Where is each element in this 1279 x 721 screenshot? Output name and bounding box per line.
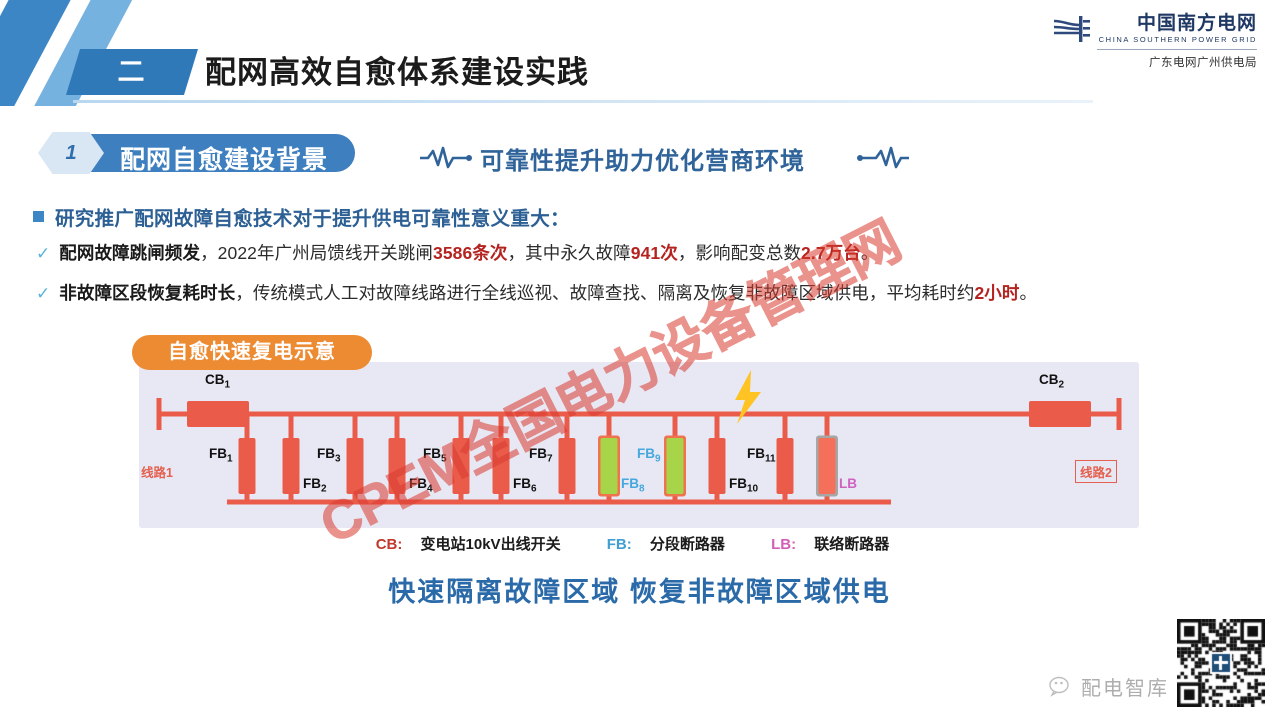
legend-item-cb: CB: 变电站10kV出线开关 [376,536,575,553]
breaker-label-FB5: FB5 [423,446,447,465]
legend-item-fb: FB: 分段断路器 [607,536,739,553]
breaker-FB10 [709,438,726,494]
breaker-label-FB8: FB8 [621,476,645,495]
breaker-label-FB2: FB2 [303,476,327,495]
square-bullet-icon [33,211,44,222]
waveform-icon-right [855,146,910,170]
b2-seg2: 。 [1020,283,1038,303]
breaker-label-FB10: FB10 [729,476,758,495]
breaker-label-FB1: FB1 [209,446,233,465]
csg-logo-icon [1052,14,1092,44]
bullet-item-2-text: 非故障区段恢复耗时长，传统模式人工对故障线路进行全线巡视、故障查找、隔离及恢复非… [59,280,1037,305]
legend-key-cb: CB: [376,536,403,553]
breaker-label-FB6: FB6 [513,476,537,495]
breaker-FB2 [283,438,300,494]
wechat-label: 配电智库 [1081,672,1169,701]
bullet-item-1-text: 配网故障跳闸频发，2022年广州局馈线开关跳闸3586条次，其中永久故障941次… [59,240,878,265]
b2-seg1: ，传统模式人工对故障线路进行全线巡视、故障查找、隔离及恢复非故障区域供电，平均耗… [235,283,974,303]
page-title: 配网高效自愈体系建设实践 [205,47,589,92]
breaker-FB8 [601,438,618,494]
right-rail-label: 线路2 [1075,460,1117,483]
b1-lead: 配网故障跳闸频发 [59,243,200,263]
breaker-LB [819,438,836,494]
breaker-label-CB2: CB2 [1039,372,1064,391]
breaker-FB9 [667,438,684,494]
section-subtitle: 可靠性提升助力优化营商环境 [480,141,805,176]
slide-root: 二 配网高效自愈体系建设实践 中国南方电网 CHINA SOUTHERN POW… [0,0,1279,721]
bullet-heading: 研究推广配网故障自愈技术对于提升供电可靠性意义重大： [55,202,570,231]
breaker-label-FB4: FB4 [409,476,433,495]
bullet-heading-row: 研究推广配网故障自愈技术对于提升供电可靠性意义重大： [33,202,570,231]
diagram-tagline: 快速隔离故障区域 恢复非故障区域供电 [0,570,1279,609]
check-icon-2: ✓ [36,284,50,304]
legend-text-cb: 变电站10kV出线开关 [421,536,561,553]
b1-seg4: 。 [861,243,879,263]
logo-subtitle: 广东电网广州供电局 [1052,54,1257,70]
wechat-brand: 配电智库 [1049,672,1169,701]
waveform-icon [419,146,474,170]
breaker-FB3 [347,438,364,494]
circuit-svg [139,362,1139,528]
wechat-icon [1049,676,1075,698]
breaker-FB5 [453,438,470,494]
b1-seg3: ，影响配变总数 [678,243,801,263]
b1-seg2: ，其中永久故障 [508,243,631,263]
breaker-label-FB11: FB11 [747,446,776,465]
brand-logo: 中国南方电网 CHINA SOUTHERN POWER GRID 广东电网广州供… [1052,14,1257,70]
logo-divider [1097,49,1257,50]
breaker-label-LB: LB [839,476,857,491]
breaker-FB4 [389,438,406,494]
self-healing-circuit-diagram: CB1CB2FB1FB2FB3FB4FB5FB6FB7FB8FB9FB10FB1… [139,362,1139,533]
header-number-chip: 二 [66,49,198,95]
breaker-FB1 [239,438,256,494]
bullet-item-1: ✓ 配网故障跳闸频发，2022年广州局馈线开关跳闸3586条次，其中永久故障94… [36,240,878,265]
breaker-FB6 [493,438,510,494]
breaker-label-FB9: FB9 [637,446,661,465]
legend-key-fb: FB: [607,536,632,553]
header-divider [73,100,1093,103]
breaker-label-FB3: FB3 [317,446,341,465]
b1-hl2: 941次 [631,243,678,263]
diagram-legend: CB: 变电站10kV出线开关 FB: 分段断路器 LB: 联络断路器 [0,533,1279,554]
b1-hl1: 3586条次 [433,243,508,263]
b1-hl3: 2.7万台 [801,243,861,263]
breaker-label-CB1: CB1 [205,372,230,391]
logo-cn-text: 中国南方电网 [1099,14,1257,34]
legend-key-lb: LB: [771,536,796,553]
b1-seg1: ，2022年广州局馈线开关跳闸 [200,243,433,263]
b2-hl1: 2小时 [974,283,1019,303]
check-icon: ✓ [36,244,50,264]
bullet-item-2: ✓ 非故障区段恢复耗时长，传统模式人工对故障线路进行全线巡视、故障查找、隔离及恢… [36,280,1037,305]
header-number: 二 [73,49,191,95]
qr-code-icon [1177,619,1265,707]
breaker-FB11 [777,438,794,494]
legend-text-lb: 联络断路器 [814,536,889,553]
section-title: 配网自愈建设背景 [120,140,328,176]
breaker-label-FB7: FB7 [529,446,553,465]
breaker-FB7 [559,438,576,494]
legend-text-fb: 分段断路器 [650,536,725,553]
legend-item-lb: LB: 联络断路器 [771,536,903,553]
breaker-CB2 [1029,401,1091,427]
logo-en-text: CHINA SOUTHERN POWER GRID [1099,35,1257,44]
left-rail-label: 线路1 [141,462,173,481]
b2-lead: 非故障区段恢复耗时长 [59,283,235,303]
